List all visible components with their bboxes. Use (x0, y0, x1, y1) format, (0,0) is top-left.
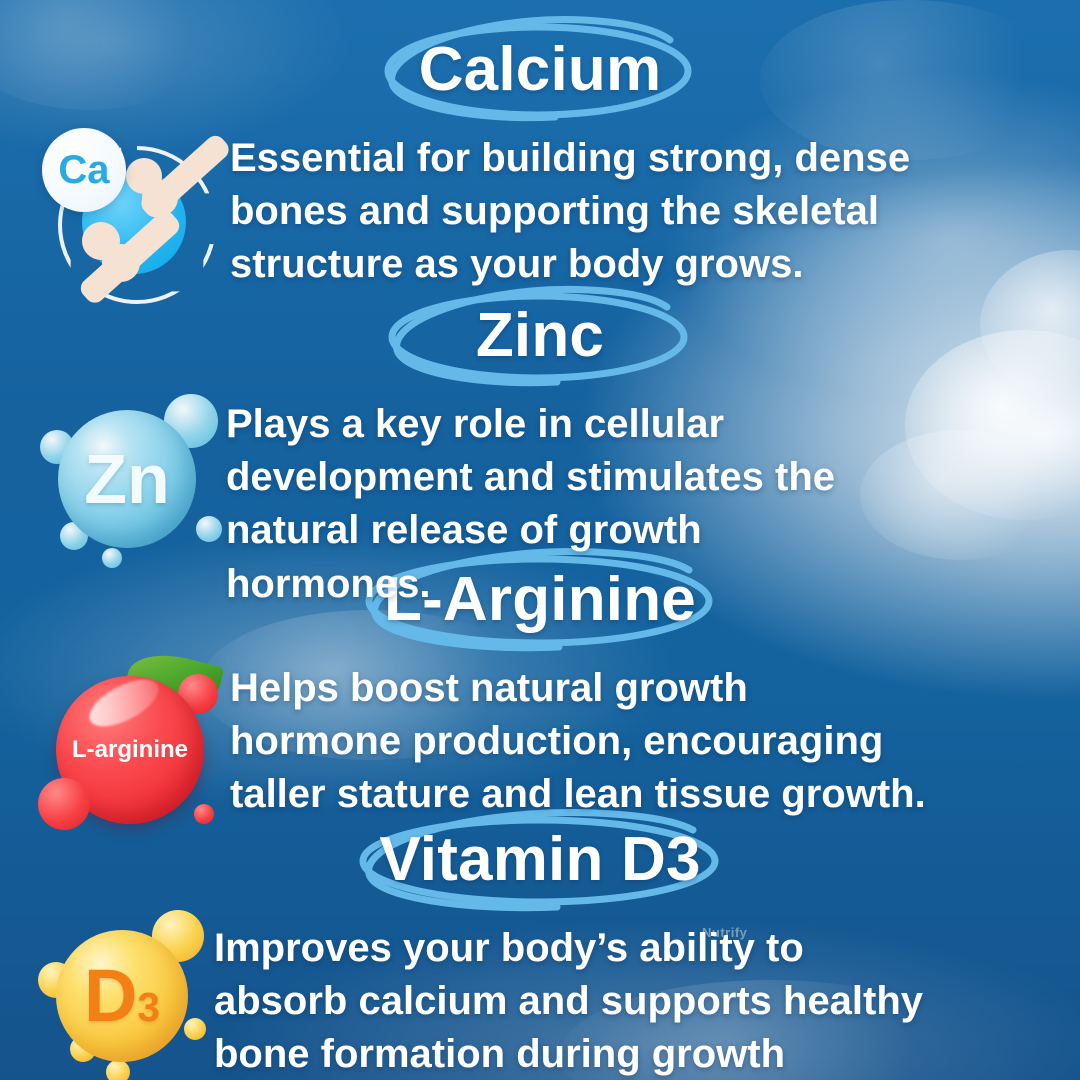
section-calcium: Calcium Ca Essential fo (0, 22, 1080, 316)
l-arginine-icon-slot: L-arginine (30, 652, 226, 838)
calcium-symbol-label: Ca (58, 150, 109, 190)
calcium-title-wrap: Calcium (0, 22, 1080, 118)
d3-satellite-sphere (106, 1060, 130, 1080)
zinc-icon-slot: Zn (40, 390, 226, 570)
zinc-satellite-bubble (196, 516, 222, 542)
vitamin-d3-description: Improves your body’s ability to absorb c… (214, 922, 934, 1080)
zinc-description: Plays a key role in cellular development… (226, 398, 916, 611)
zinc-bubble-icon: Zn (58, 410, 196, 548)
vitamin-d3-icon-slot: D3 (34, 908, 214, 1080)
l-arginine-sphere-icon: L-arginine (30, 652, 225, 832)
section-vitamin-d3: Vitamin D3 D3 Improves your body’s abili… (0, 812, 1080, 1080)
l-arginine-symbol-label: L-arginine (72, 736, 188, 764)
calcium-description: Essential for building strong, dense bon… (230, 132, 920, 292)
zinc-title: Zinc (476, 305, 604, 367)
vitamin-d3-sphere-icon: D3 (56, 930, 188, 1062)
vitamin-d3-title: Vitamin D3 (379, 829, 700, 891)
vitamin-d3-title-wrap: Vitamin D3 (0, 812, 1080, 908)
l-arginine-description: Helps boost natural growth hormone produ… (230, 662, 930, 822)
calcium-title: Calcium (419, 39, 662, 101)
d3-symbol-label: D3 (84, 959, 160, 1033)
vitamin-d3-row: D3 Improves your body’s ability to absor… (0, 908, 1080, 1080)
bone-knob-icon (142, 180, 178, 216)
zinc-symbol-label: Zn (84, 444, 170, 514)
zinc-title-wrap: Zinc (0, 288, 1080, 384)
bone-knob-icon (102, 244, 140, 282)
l-arginine-row: L-arginine Helps boost natural growth ho… (0, 652, 1080, 838)
ingredient-benefits-poster: Calcium Ca Essential fo (0, 0, 1080, 1080)
d3-satellite-sphere (184, 1018, 206, 1040)
calcium-symbol-bubble: Ca (42, 128, 126, 212)
